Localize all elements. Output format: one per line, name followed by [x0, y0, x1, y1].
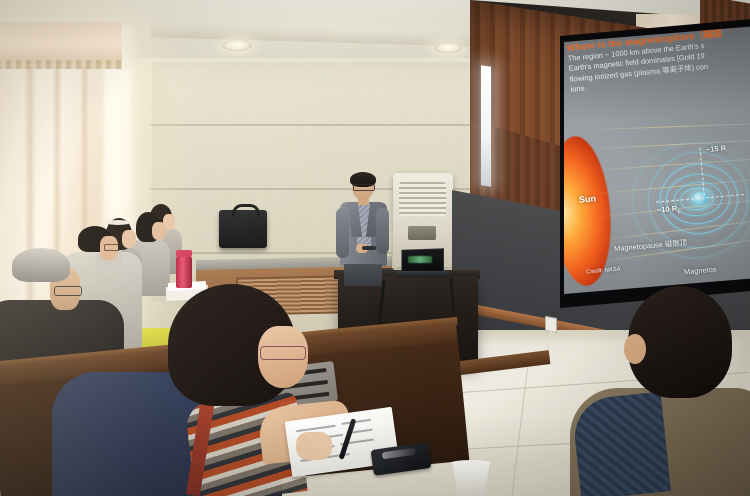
slide-distance-label-side: ~10 RE — [656, 204, 681, 218]
wall-light-strip — [481, 65, 491, 187]
presenter — [332, 172, 394, 284]
slide-distance-label-top: ~15 R — [705, 143, 726, 154]
slide-sun-label: Sun — [579, 193, 597, 204]
laptop-screen-content — [408, 256, 432, 263]
projection-screen[interactable]: ~15 R ~10 RE Sun Magnetopause 磁层顶 Magnet… — [562, 26, 750, 296]
curtain-valance-left — [0, 22, 122, 64]
wall-panel-seam — [150, 124, 500, 126]
foreground-man-ear — [624, 334, 646, 364]
hair-band — [106, 220, 130, 225]
audience-person-face — [122, 230, 136, 248]
presenter-remote[interactable] — [362, 246, 376, 250]
foreground-woman-hand — [296, 432, 332, 460]
glasses-icon — [104, 244, 120, 251]
presenter-legs — [344, 264, 382, 286]
audience-person-face — [152, 222, 166, 240]
glasses-icon — [353, 184, 375, 191]
ceiling-downlight-icon — [222, 40, 252, 51]
glasses-icon — [54, 286, 82, 296]
paper-cup — [452, 462, 490, 496]
air-conditioner-grille — [399, 182, 446, 216]
curtain-lace-trim — [0, 60, 122, 69]
air-conditioner-panel — [408, 226, 436, 240]
lecture-room-photo: ~15 R ~10 RE Sun Magnetopause 磁层顶 Magnet… — [0, 0, 750, 496]
briefcase-handle — [232, 204, 260, 217]
ceiling-downlight-icon — [434, 43, 462, 53]
presentation-slide: ~15 R ~10 RE Sun Magnetopause 磁层顶 Magnet… — [562, 26, 750, 296]
slide-magnetotail-label: Magnetos — [684, 265, 717, 277]
thermos-bottle — [176, 256, 192, 288]
presenter-arm — [376, 208, 389, 254]
audience-older-man-hair — [12, 248, 70, 282]
presenter-arm — [336, 208, 349, 258]
laptop-keyboard[interactable] — [395, 271, 448, 277]
thermos-cap — [176, 250, 192, 257]
foreground-man-shirt — [571, 392, 671, 496]
glasses-icon — [260, 346, 306, 360]
